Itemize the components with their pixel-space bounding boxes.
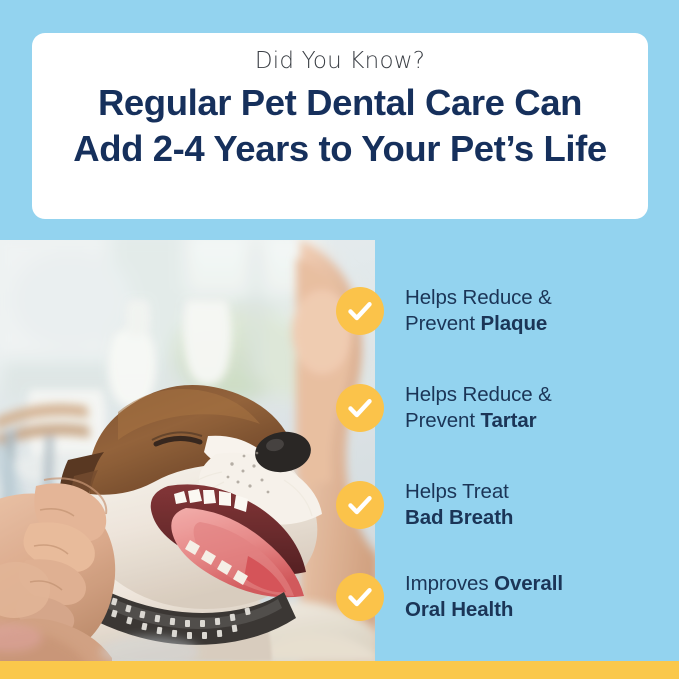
check-icon [336,573,384,621]
benefit-line-2-plain: Prevent [405,312,481,335]
benefit-label-plaque: Helps Reduce & Prevent Plaque [405,285,552,338]
header-card: Did You Know? Regular Pet Dental Care Ca… [32,33,648,219]
benefit-line-2-plain: Prevent [405,409,481,432]
pet-dental-care-infographic: Did You Know? Regular Pet Dental Care Ca… [0,0,679,679]
benefit-line-1: Helps Reduce & [405,285,552,311]
benefit-label-tartar: Helps Reduce & Prevent Tartar [405,382,552,435]
benefit-item-plaque: Helps Reduce & Prevent Plaque [336,285,679,338]
benefit-line-1-plain: Improves [405,572,494,595]
check-icon [336,481,384,529]
bottom-accent-strip [0,661,679,679]
benefit-line-2: Prevent Tartar [405,408,552,434]
check-icon [336,287,384,335]
benefit-line-1: Helps Treat [405,479,513,505]
headline-line-2: Add 2-4 Years to Your Pet’s Life [73,126,607,172]
benefit-line-2: Oral Health [405,597,563,623]
benefit-line-2: Bad Breath [405,505,513,531]
benefit-line-2-bold: Oral Health [405,598,513,621]
dog-photo [0,240,375,661]
benefit-item-bad-breath: Helps Treat Bad Breath [336,479,679,532]
page-title: Regular Pet Dental Care Can Add 2-4 Year… [73,80,607,172]
headline-line-1: Regular Pet Dental Care Can [73,80,607,126]
benefit-line-2: Prevent Plaque [405,311,552,337]
benefit-label-bad-breath: Helps Treat Bad Breath [405,479,513,532]
benefit-line-1-bold: Overall [494,572,563,595]
benefit-line-2-bold: Bad Breath [405,506,513,529]
eyebrow-label: Did You Know? [255,49,425,74]
benefit-item-tartar: Helps Reduce & Prevent Tartar [336,382,679,435]
benefit-line-1: Helps Reduce & [405,382,552,408]
benefits-list: Helps Reduce & Prevent Plaque Helps Redu… [336,240,679,661]
benefit-item-oral-health: Improves Overall Oral Health [336,571,679,624]
dog-photo-illustration [0,240,375,661]
benefit-line-2-bold: Plaque [481,312,548,335]
benefit-line-1: Improves Overall [405,571,563,597]
check-icon [336,384,384,432]
benefit-label-oral-health: Improves Overall Oral Health [405,571,563,624]
benefit-line-2-bold: Tartar [481,409,537,432]
